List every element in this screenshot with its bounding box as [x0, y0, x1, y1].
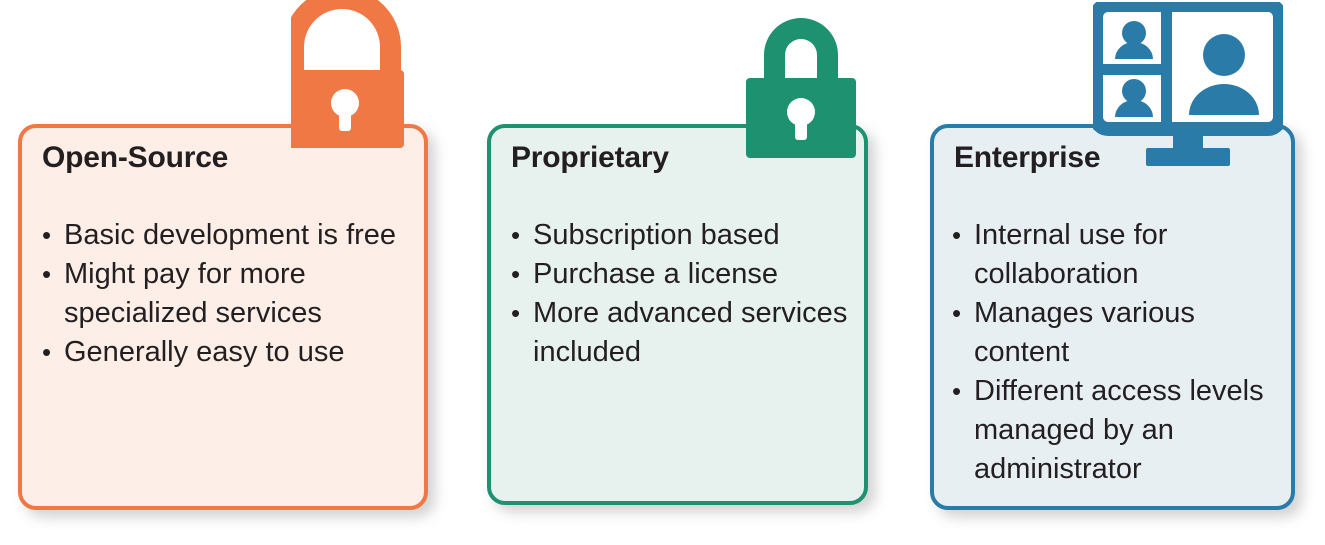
- card-enterprise-title: Enterprise: [954, 141, 1100, 175]
- monitor-video-conference-icon: [1093, 2, 1283, 168]
- list-item: Generally easy to use: [40, 333, 414, 372]
- list-item: Might pay for more specialized services: [40, 255, 414, 333]
- list-item: Subscription based: [509, 216, 858, 255]
- card-open-source-inner: Open-Source Basic development is free Mi…: [22, 128, 424, 506]
- list-item: More advanced services included: [509, 294, 858, 372]
- list-item: Purchase a license: [509, 255, 858, 294]
- card-open-source: Open-Source Basic development is free Mi…: [18, 124, 428, 510]
- card-enterprise-bullets: Internal use for collaboration Manages v…: [950, 216, 1289, 489]
- closed-padlock-icon: [742, 0, 860, 158]
- list-item: Basic development is free: [40, 216, 414, 255]
- card-open-source-title: Open-Source: [42, 141, 228, 175]
- card-open-source-bullets: Basic development is free Might pay for …: [40, 216, 414, 372]
- list-item: Internal use for collaboration: [950, 216, 1289, 294]
- card-proprietary-inner: Proprietary Subscription based Purchase …: [491, 128, 864, 501]
- list-item: Manages various content: [950, 294, 1289, 372]
- card-enterprise-inner: Enterprise Internal use for collaboratio…: [934, 128, 1291, 506]
- card-enterprise: Enterprise Internal use for collaboratio…: [930, 124, 1295, 510]
- list-item: Different access levels managed by an ad…: [950, 372, 1289, 489]
- card-proprietary: Proprietary Subscription based Purchase …: [487, 124, 868, 505]
- open-padlock-icon: [291, 0, 420, 150]
- card-proprietary-bullets: Subscription based Purchase a license Mo…: [509, 216, 858, 372]
- comparison-diagram: Open-Source Basic development is free Mi…: [0, 0, 1325, 545]
- card-proprietary-title: Proprietary: [511, 141, 669, 175]
